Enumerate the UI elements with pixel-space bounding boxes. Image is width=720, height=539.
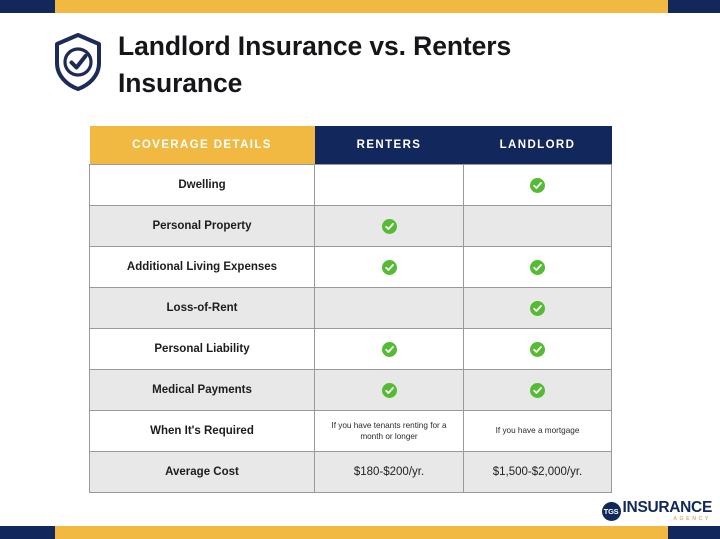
cell-coverage-detail: Average Cost: [90, 452, 315, 493]
cell-coverage-detail: Personal Liability: [90, 329, 315, 370]
cell-renters: $180-$200/yr.: [315, 452, 464, 493]
logo-mark-tgs: TGS: [602, 502, 621, 521]
top-bar-yellow: [55, 0, 668, 13]
cell-landlord: $1,500-$2,000/yr.: [464, 452, 612, 493]
bottom-bar-navy-right: [668, 526, 720, 539]
top-bar-navy-left: [0, 0, 55, 13]
column-header-renters: RENTERS: [315, 126, 464, 165]
cell-landlord: [464, 206, 612, 247]
bottom-bar-navy-left: [0, 526, 55, 539]
table-row: Average Cost$180-$200/yr.$1,500-$2,000/y…: [90, 452, 612, 493]
cell-landlord: [464, 329, 612, 370]
bottom-accent-bar: [0, 526, 720, 539]
check-circle-icon: [530, 260, 545, 275]
cell-coverage-detail: Loss-of-Rent: [90, 288, 315, 329]
logo-subtitle-agency: AGENCY: [673, 517, 711, 522]
table-row: Personal Liability: [90, 329, 612, 370]
cell-renters: [315, 288, 464, 329]
cell-coverage-detail: Personal Property: [90, 206, 315, 247]
column-header-landlord: LANDLORD: [464, 126, 612, 165]
table-row: Dwelling: [90, 165, 612, 206]
cell-landlord: If you have a mortgage: [464, 411, 612, 452]
check-circle-icon: [382, 383, 397, 398]
cell-renters: If you have tenants renting for a month …: [315, 411, 464, 452]
cell-coverage-detail: Dwelling: [90, 165, 315, 206]
cell-renters: [315, 206, 464, 247]
table-body: Dwelling Personal Property Additional Li…: [90, 165, 612, 493]
column-header-coverage-details: COVERAGE DETAILS: [90, 126, 315, 165]
check-circle-icon: [530, 301, 545, 316]
check-circle-icon: [530, 178, 545, 193]
cell-renters: [315, 329, 464, 370]
page-title: Landlord Insurance vs. Renters Insurance: [118, 28, 618, 101]
cell-coverage-detail: Additional Living Expenses: [90, 247, 315, 288]
shield-check-icon: [52, 32, 104, 92]
check-circle-icon: [382, 342, 397, 357]
check-circle-icon: [530, 383, 545, 398]
check-circle-icon: [382, 260, 397, 275]
check-circle-icon: [530, 342, 545, 357]
logo-word-insurance: INSURANCE: [623, 500, 712, 516]
coverage-comparison-table: COVERAGE DETAILS RENTERS LANDLORD Dwelli…: [89, 126, 612, 493]
cell-renters: [315, 247, 464, 288]
cell-coverage-detail: When It's Required: [90, 411, 315, 452]
table-row: Additional Living Expenses: [90, 247, 612, 288]
cell-landlord: [464, 165, 612, 206]
table-row: Loss-of-Rent: [90, 288, 612, 329]
top-accent-bar: [0, 0, 720, 13]
cell-landlord: [464, 247, 612, 288]
cell-landlord: [464, 370, 612, 411]
brand-logo: TGS INSURANCE AGENCY: [602, 500, 712, 522]
cell-renters: [315, 165, 464, 206]
cell-landlord: [464, 288, 612, 329]
page-header: Landlord Insurance vs. Renters Insurance: [52, 28, 668, 101]
table-row: Medical Payments: [90, 370, 612, 411]
logo-text: INSURANCE AGENCY: [623, 500, 712, 522]
cell-renters: [315, 370, 464, 411]
table-row: Personal Property: [90, 206, 612, 247]
bottom-bar-yellow: [55, 526, 668, 539]
cell-coverage-detail: Medical Payments: [90, 370, 315, 411]
top-bar-navy-right: [668, 0, 720, 13]
table-row: When It's RequiredIf you have tenants re…: [90, 411, 612, 452]
table-header-row: COVERAGE DETAILS RENTERS LANDLORD: [90, 126, 612, 165]
check-circle-icon: [382, 219, 397, 234]
